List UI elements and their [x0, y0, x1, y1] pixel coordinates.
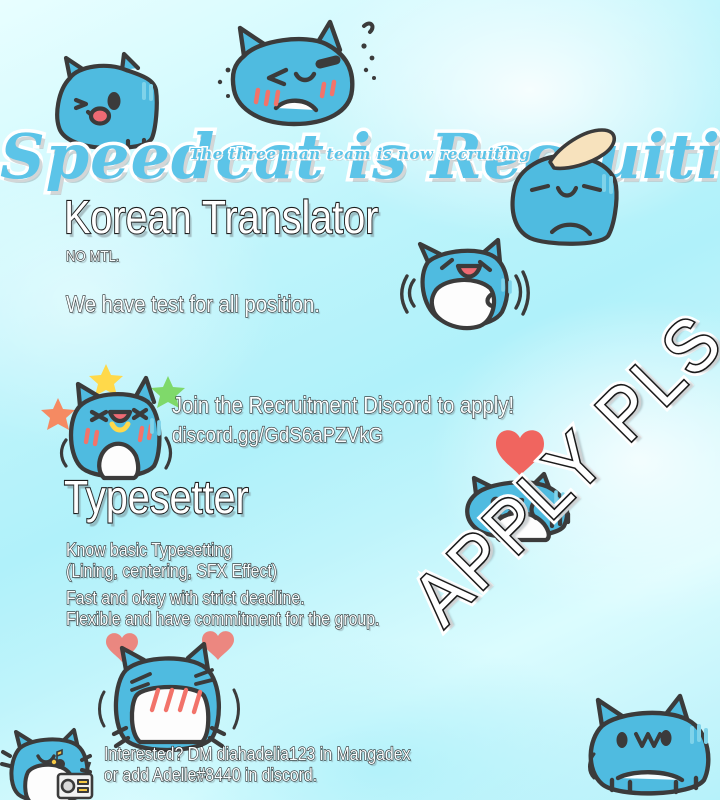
- cat-hugging-pillow-sticker: [92, 622, 242, 758]
- cat-with-radio-sticker: [2, 722, 112, 800]
- cat-excited-sticker: [406, 232, 526, 338]
- role-requirement: Know basic Typesetting: [66, 540, 232, 561]
- cat-sparkling-sticker: [42, 358, 187, 478]
- cat-bottom-right-sticker: [572, 692, 720, 800]
- role-heading-korean-translator: Korean Translator: [64, 194, 378, 240]
- recruitment-poster: Speedcat is Recruiting The three man tea…: [0, 0, 720, 800]
- role-heading-typesetter: Typesetter: [64, 474, 249, 520]
- role-requirement: (Lining, centering, SFX Effect): [66, 561, 277, 582]
- role-requirement: NO MTL.: [66, 248, 120, 266]
- role-requirement: We have test for all position.: [66, 291, 320, 318]
- discord-invite-link[interactable]: discord.gg/GdS6aPZVkG: [172, 423, 383, 448]
- apply-stamp: APPLY PLS: [400, 301, 720, 638]
- role-requirement: Fast and okay with strict deadline.: [66, 588, 305, 609]
- discord-call-to-action: Join the Recruitment Discord to apply!: [172, 392, 514, 419]
- contact-line-2: or add Adelle#8440 in discord.: [104, 765, 317, 786]
- contact-line-1: Interested? DM diahadelia123 in Mangadex: [104, 744, 410, 765]
- cat-being-petted-sticker: [492, 128, 632, 244]
